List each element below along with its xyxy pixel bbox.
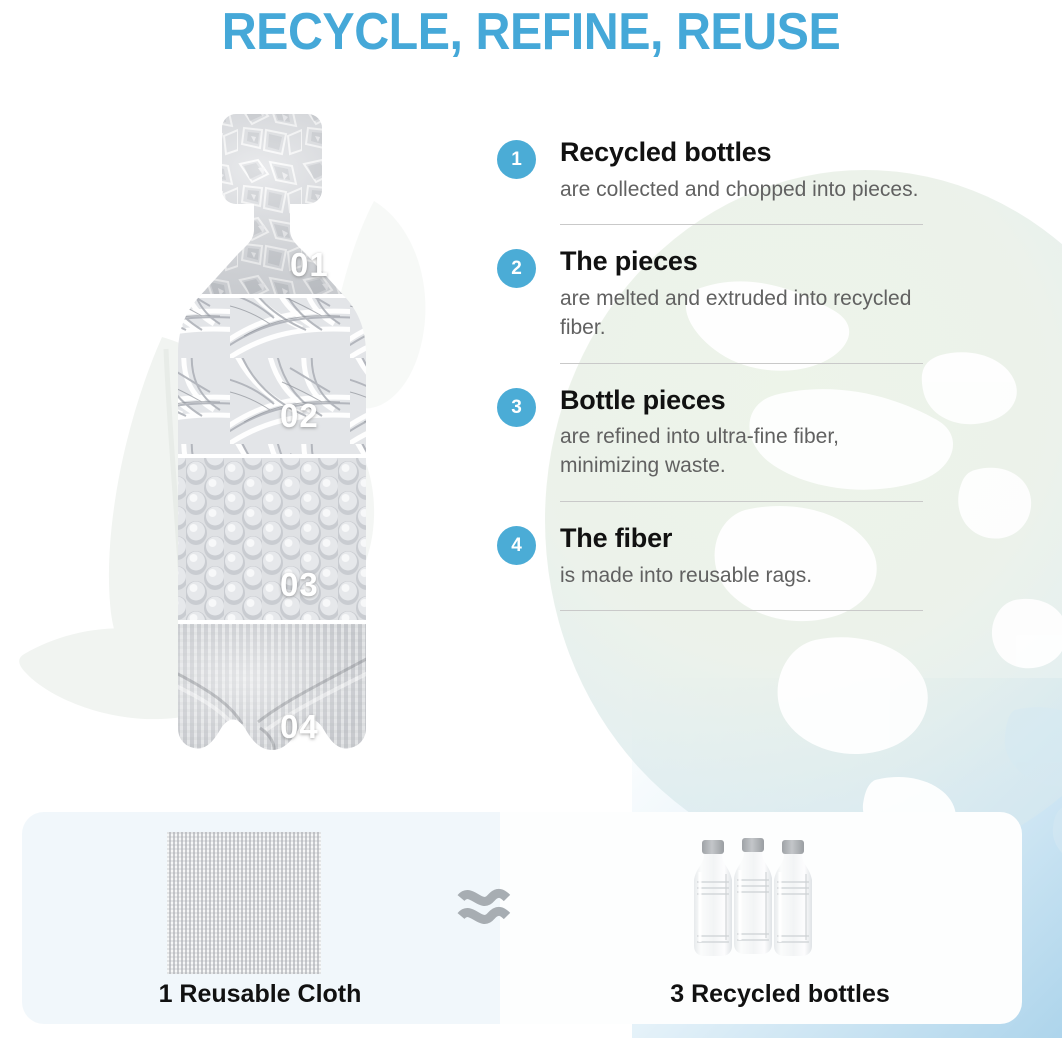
step-divider-1 <box>560 224 923 225</box>
reusable-cloth-swatch <box>167 832 321 974</box>
step-heading-4: The fiber <box>560 524 937 554</box>
step-badge-2: 2 <box>497 249 536 288</box>
step-body-2: are melted and extruded into recycled fi… <box>560 285 937 343</box>
bottle-diagram: 01 02 03 04 <box>110 100 410 810</box>
process-step-4: 4 The fiber is made into reusable rags. <box>497 524 937 611</box>
step-heading-2: The pieces <box>560 247 937 277</box>
process-steps-list: 1 Recycled bottles are collected and cho… <box>497 138 937 611</box>
process-step-1: 1 Recycled bottles are collected and cho… <box>497 138 937 225</box>
process-step-2: 2 The pieces are melted and extruded int… <box>497 247 937 363</box>
step-divider-4 <box>560 610 923 611</box>
step-heading-3: Bottle pieces <box>560 386 937 416</box>
step-divider-2 <box>560 363 923 364</box>
step-body-3: are refined into ultra-fine fiber, minim… <box>560 423 937 481</box>
step-body-1: are collected and chopped into pieces. <box>560 176 937 205</box>
step-divider-3 <box>560 501 923 502</box>
step-badge-3: 3 <box>497 388 536 427</box>
page-title: RECYCLE, REFINE, REUSE <box>37 2 1025 62</box>
comparison-right-label: 3 Recycled bottles <box>520 980 1040 1009</box>
infographic-page: RECYCLE, REFINE, REUSE <box>0 0 1062 1038</box>
step-heading-1: Recycled bottles <box>560 138 937 168</box>
comparison-left-label: 1 Reusable Cloth <box>0 980 520 1009</box>
approximately-equal-icon <box>455 880 513 930</box>
step-badge-4: 4 <box>497 526 536 565</box>
step-body-4: is made into reusable rags. <box>560 562 937 591</box>
process-step-3: 3 Bottle pieces are refined into ultra-f… <box>497 386 937 502</box>
recycled-bottles-icon <box>690 828 840 973</box>
step-badge-1: 1 <box>497 140 536 179</box>
